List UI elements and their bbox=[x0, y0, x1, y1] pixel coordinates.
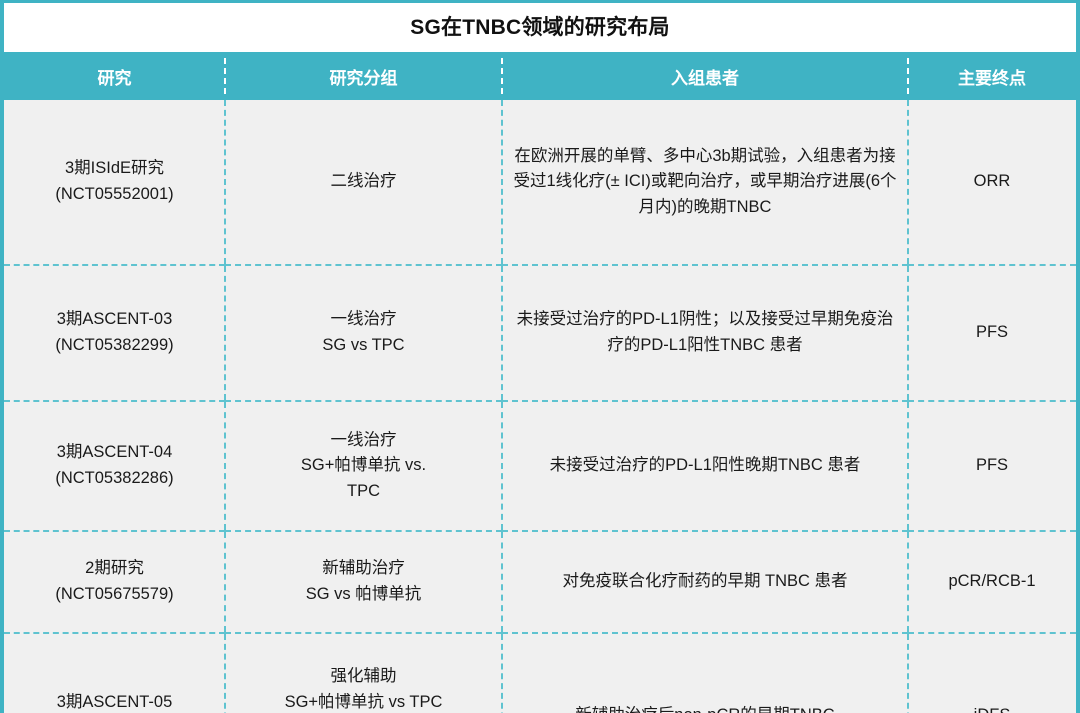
cell-arm: 一线治疗 SG vs TPC bbox=[225, 265, 502, 401]
arm-line: 一线治疗 bbox=[235, 307, 492, 333]
cell-arm: 新辅助治疗 SG vs 帕博单抗 bbox=[225, 531, 502, 633]
cell-endpoint: iDFS bbox=[908, 633, 1076, 713]
table-header-row: 研究 研究分组 入组患者 主要终点 bbox=[4, 52, 1076, 100]
table-row: 3期ASCENT-05 (NCT05633654) 强化辅助 SG+帕博单抗 v… bbox=[4, 633, 1076, 713]
cell-endpoint: PFS bbox=[908, 265, 1076, 401]
column-header-arm: 研究分组 bbox=[225, 52, 502, 100]
arm-line: SG vs TPC bbox=[235, 333, 492, 359]
cell-endpoint: PFS bbox=[908, 401, 1076, 531]
arm-line: SG vs 帕博单抗 bbox=[235, 582, 492, 608]
cell-study: 3期ASCENT-03 (NCT05382299) bbox=[4, 265, 225, 401]
column-header-population: 入组患者 bbox=[502, 52, 908, 100]
cell-population: 新辅助治疗后non-pCR的早期TNBC bbox=[502, 633, 908, 713]
arm-line: SG+帕博单抗 vs TPC bbox=[235, 690, 492, 713]
cell-population: 在欧洲开展的单臂、多中心3b期试验，入组患者为接受过1线化疗(± ICI)或靶向… bbox=[502, 100, 908, 265]
study-name: 3期ASCENT-03 bbox=[14, 307, 215, 333]
table-row: 3期ASCENT-03 (NCT05382299) 一线治疗 SG vs TPC… bbox=[4, 265, 1076, 401]
title-banner: SG在TNBC领域的研究布局 bbox=[0, 0, 1080, 52]
cell-study: 3期ASCENT-04 (NCT05382286) bbox=[4, 401, 225, 531]
population-text: 对免疫联合化疗耐药的早期 TNBC 患者 bbox=[512, 569, 898, 595]
arm-line: 一线治疗 bbox=[235, 428, 492, 454]
arm-line: TPC bbox=[235, 479, 492, 505]
arm-line: 二线治疗 bbox=[235, 169, 492, 195]
population-text: 新辅助治疗后non-pCR的早期TNBC bbox=[512, 703, 898, 713]
cell-population: 未接受过治疗的PD-L1阳性晚期TNBC 患者 bbox=[502, 401, 908, 531]
study-nct: (NCT05382299) bbox=[14, 333, 215, 359]
cell-population: 未接受过治疗的PD-L1阴性；以及接受过早期免疫治疗的PD-L1阳性TNBC 患… bbox=[502, 265, 908, 401]
arm-line: 强化辅助 bbox=[235, 664, 492, 690]
study-nct: (NCT05552001) bbox=[14, 182, 215, 208]
cell-study: 3期ASCENT-05 (NCT05633654) bbox=[4, 633, 225, 713]
study-table: 研究 研究分组 入组患者 主要终点 3期ISIdE研究 (NCT05552001… bbox=[4, 52, 1076, 713]
study-name: 3期ASCENT-05 bbox=[14, 690, 215, 713]
cell-endpoint: ORR bbox=[908, 100, 1076, 265]
cell-population: 对免疫联合化疗耐药的早期 TNBC 患者 bbox=[502, 531, 908, 633]
table-row: 3期ASCENT-04 (NCT05382286) 一线治疗 SG+帕博单抗 v… bbox=[4, 401, 1076, 531]
study-nct: (NCT05382286) bbox=[14, 466, 215, 492]
population-text: 在欧洲开展的单臂、多中心3b期试验，入组患者为接受过1线化疗(± ICI)或靶向… bbox=[512, 144, 898, 221]
arm-line: SG+帕博单抗 vs. bbox=[235, 453, 492, 479]
cell-endpoint: pCR/RCB-1 bbox=[908, 531, 1076, 633]
arm-line: 新辅助治疗 bbox=[235, 556, 492, 582]
population-text: 未接受过治疗的PD-L1阳性晚期TNBC 患者 bbox=[512, 453, 898, 479]
cell-arm: 二线治疗 bbox=[225, 100, 502, 265]
table-row: 3期ISIdE研究 (NCT05552001) 二线治疗 在欧洲开展的单臂、多中… bbox=[4, 100, 1076, 265]
page-title: SG在TNBC领域的研究布局 bbox=[410, 17, 669, 38]
cell-study: 2期研究 (NCT05675579) bbox=[4, 531, 225, 633]
column-header-endpoint: 主要终点 bbox=[908, 52, 1076, 100]
table-body: 3期ISIdE研究 (NCT05552001) 二线治疗 在欧洲开展的单臂、多中… bbox=[4, 100, 1076, 713]
population-text: 未接受过治疗的PD-L1阴性；以及接受过早期免疫治疗的PD-L1阳性TNBC 患… bbox=[512, 307, 898, 358]
study-name: 2期研究 bbox=[14, 556, 215, 582]
table-header: 研究 研究分组 入组患者 主要终点 bbox=[4, 52, 1076, 100]
slide-canvas: SG在TNBC领域的研究布局 研究 研究分组 入组患者 主要终点 3期ISIdE… bbox=[0, 0, 1080, 713]
column-header-study: 研究 bbox=[4, 52, 225, 100]
study-name: 3期ASCENT-04 bbox=[14, 440, 215, 466]
cell-arm: 一线治疗 SG+帕博单抗 vs. TPC bbox=[225, 401, 502, 531]
cell-study: 3期ISIdE研究 (NCT05552001) bbox=[4, 100, 225, 265]
study-nct: (NCT05675579) bbox=[14, 582, 215, 608]
table-row: 2期研究 (NCT05675579) 新辅助治疗 SG vs 帕博单抗 对免疫联… bbox=[4, 531, 1076, 633]
study-table-frame: 研究 研究分组 入组患者 主要终点 3期ISIdE研究 (NCT05552001… bbox=[0, 52, 1080, 713]
cell-arm: 强化辅助 SG+帕博单抗 vs TPC (帕博单抗单药或 联合卡培他滨) bbox=[225, 633, 502, 713]
study-name: 3期ISIdE研究 bbox=[14, 156, 215, 182]
